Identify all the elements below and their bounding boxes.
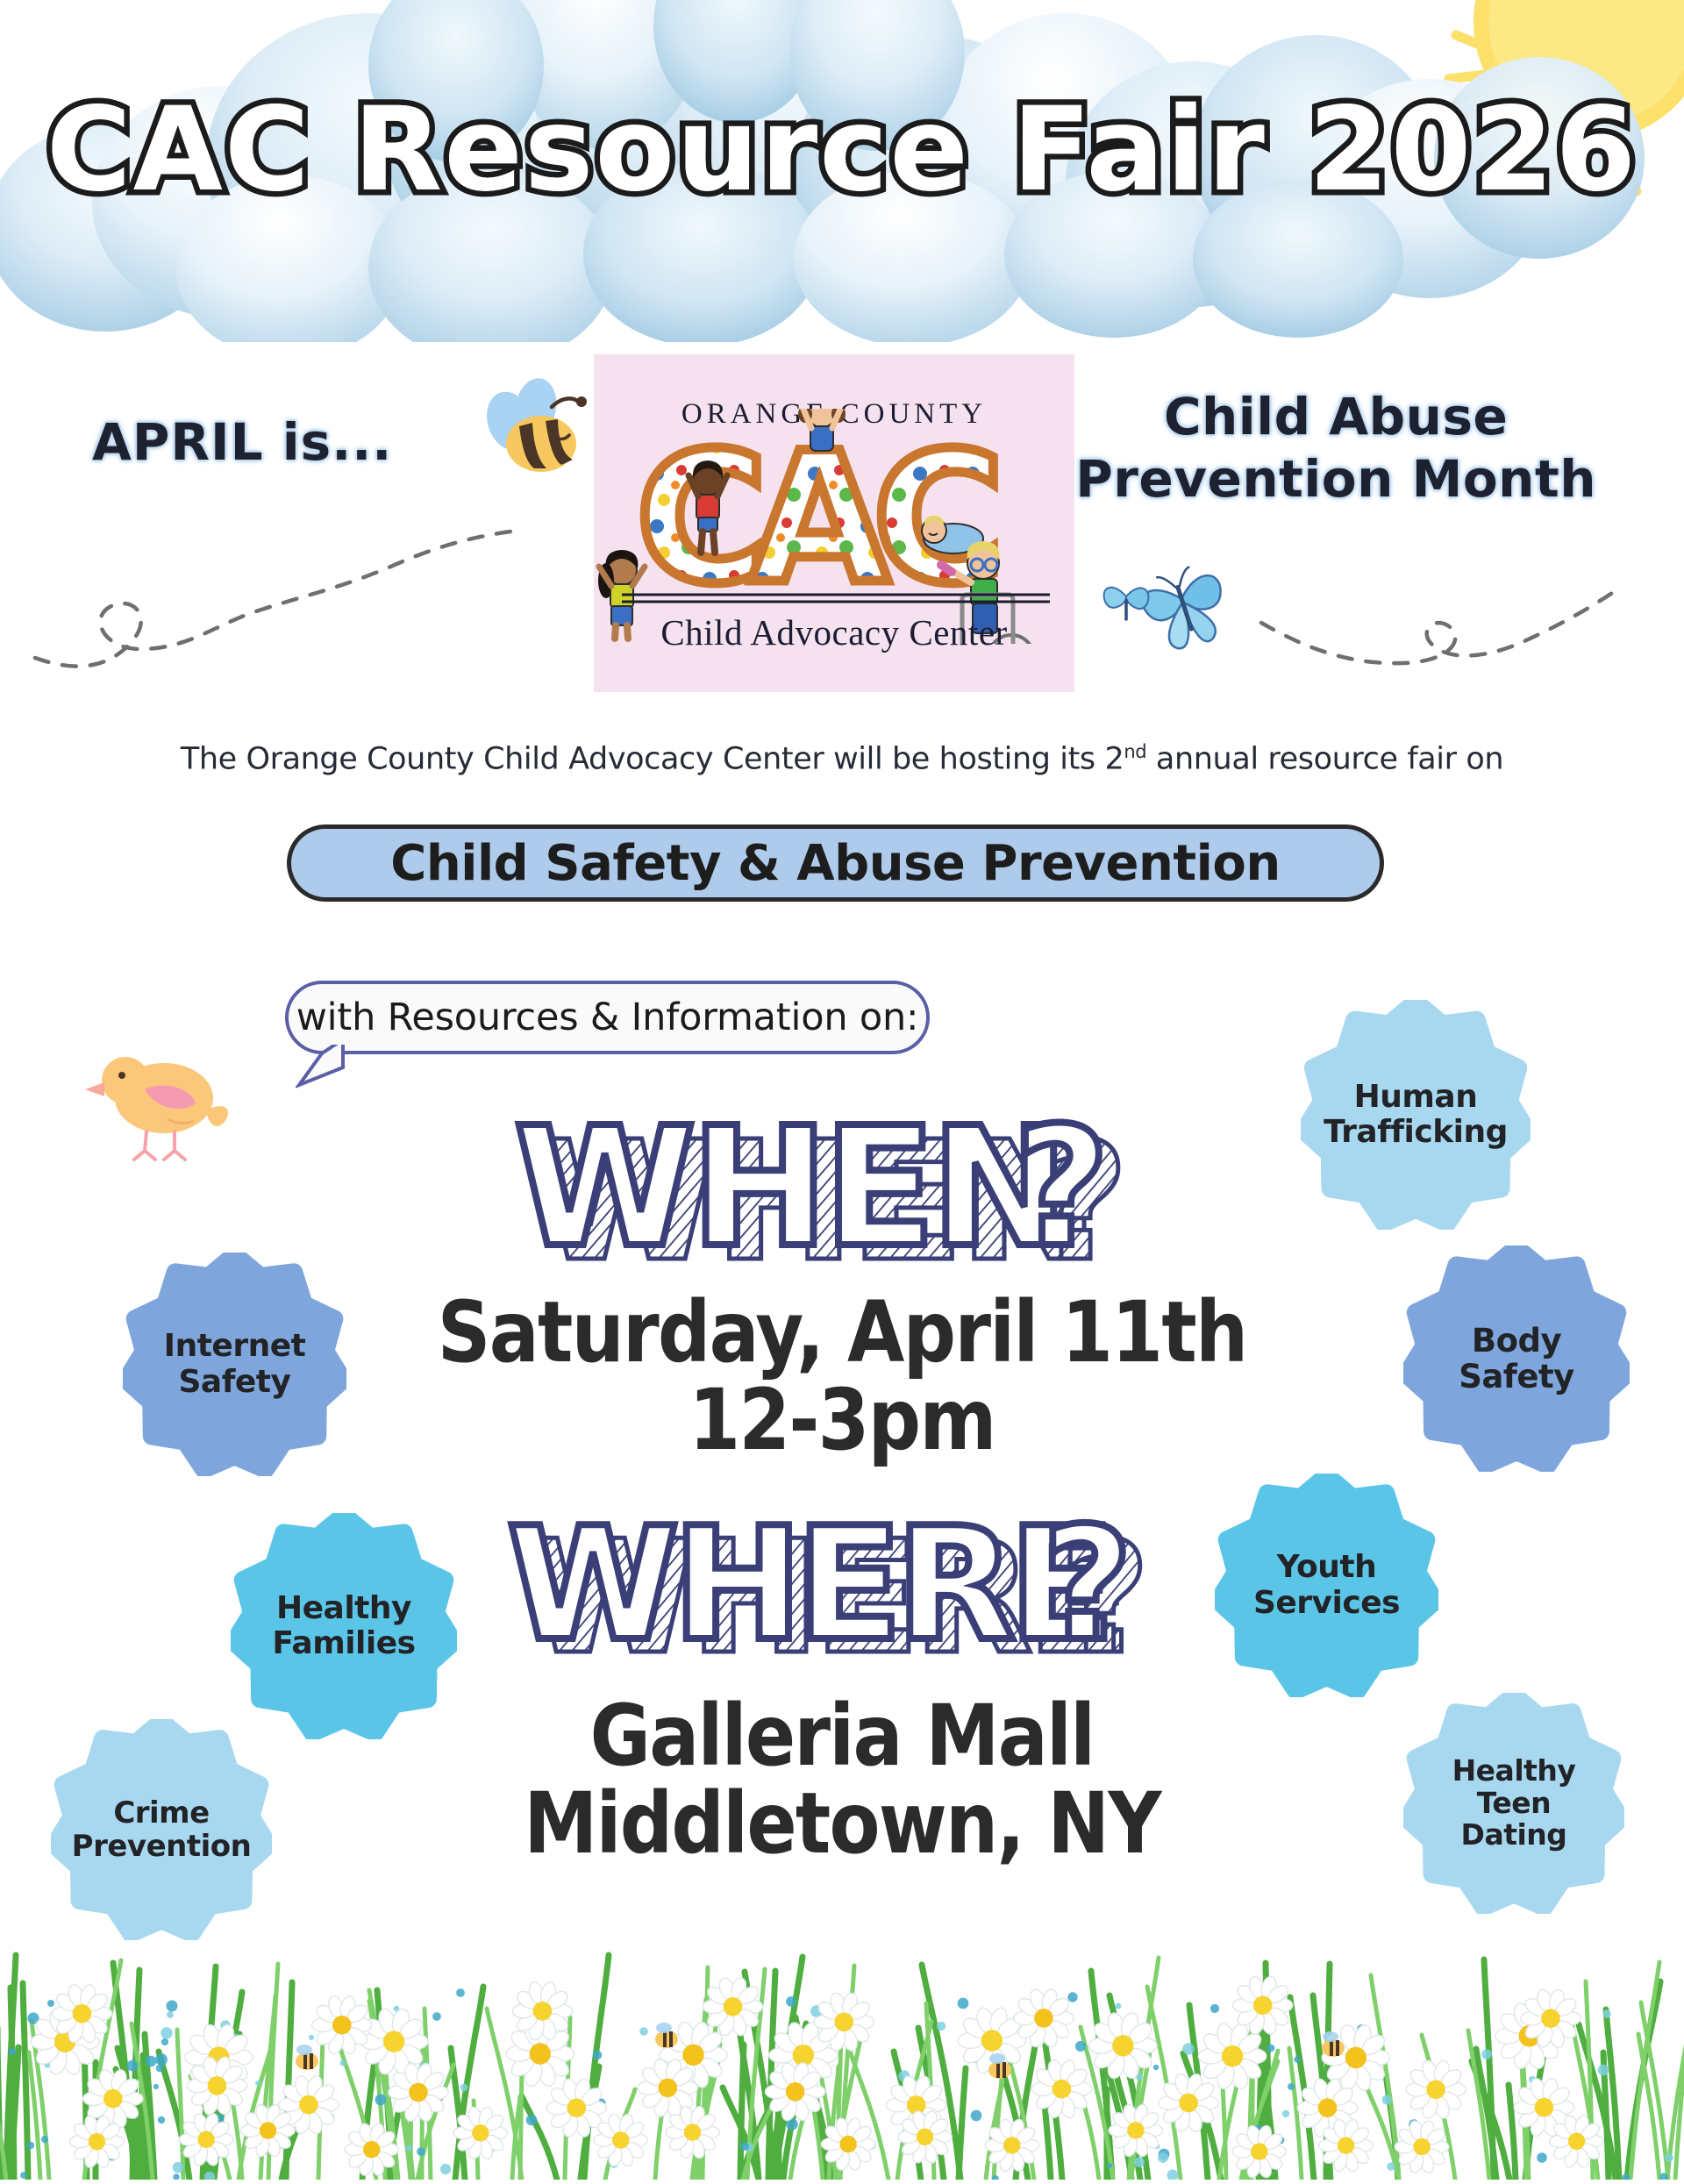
bee-icon xyxy=(478,377,592,487)
page-title: CAC Resource Fair 2026 xyxy=(0,92,1684,208)
bee-icon xyxy=(296,2045,318,2070)
bee-icon xyxy=(655,2023,678,2048)
april-is-label: APRIL is... xyxy=(92,412,392,472)
bird-icon xyxy=(83,1035,241,1175)
svg-text:WHERE: WHERE xyxy=(507,1494,1109,1662)
where-heading: WHERE ? WHERE ? xyxy=(488,1491,1189,1662)
prevention-month-line2: Prevention Month xyxy=(1075,448,1596,510)
daisy-meadow-icon xyxy=(0,1916,1684,2180)
svg-text:?: ? xyxy=(1042,1494,1132,1662)
intro-after: annual resource fair on xyxy=(1146,742,1503,777)
svg-text:WHEN: WHEN xyxy=(514,1092,1063,1270)
daisy-icon xyxy=(1232,2124,1286,2180)
bee-flight-path xyxy=(26,526,517,702)
where-city: Middletown, NY xyxy=(101,1781,1583,1868)
logo-bottom-text: Child Advocacy Center xyxy=(594,611,1074,653)
prevention-month-label: Child Abuse Prevention Month xyxy=(1075,386,1596,510)
topic-blob: Body Safety xyxy=(1403,1245,1630,1472)
daisy-icon xyxy=(1395,2119,1448,2174)
butterfly-small-icon xyxy=(1096,561,1158,632)
butterfly-flight-path xyxy=(1254,570,1623,728)
intro-before: The Orange County Child Advocacy Center … xyxy=(181,742,1124,777)
resources-speech-bubble: with Resources & Information on: xyxy=(285,981,930,1054)
prevention-month-line1: Child Abuse xyxy=(1075,386,1596,448)
cac-logo: ORANGE COUNTY C A C xyxy=(594,354,1074,692)
topic-blob-label: Crime Prevention xyxy=(72,1796,252,1863)
topic-blob: Youth Services xyxy=(1215,1474,1438,1697)
speech-bubble-tail xyxy=(296,1039,357,1088)
when-heading: WHEN ? WHEN ? xyxy=(488,1090,1181,1270)
topic-banner: Child Safety & Abuse Prevention xyxy=(287,824,1384,902)
topic-blob: Healthy Families xyxy=(231,1513,457,1739)
topic-blob: Human Trafficking xyxy=(1301,1000,1531,1230)
topic-blob-label: Youth Services xyxy=(1253,1550,1400,1621)
topic-blob-label: Healthy Teen Dating xyxy=(1452,1755,1576,1852)
topic-banner-label: Child Safety & Abuse Prevention xyxy=(390,835,1280,892)
svg-text:?: ? xyxy=(1014,1092,1110,1270)
resources-bubble-label: with Resources & Information on: xyxy=(296,996,919,1039)
intro-ordinal: nd xyxy=(1124,741,1146,762)
intro-sentence: The Orange County Child Advocacy Center … xyxy=(0,741,1684,777)
topic-blob: Healthy Teen Dating xyxy=(1403,1693,1624,1914)
topic-blob-label: Human Trafficking xyxy=(1324,1080,1508,1151)
topic-blob-label: Body Safety xyxy=(1459,1323,1574,1395)
daisy-icon xyxy=(1031,2059,1091,2120)
topic-blob: Internet Safety xyxy=(123,1253,346,1476)
topic-blob-label: Healthy Families xyxy=(272,1591,415,1662)
topic-blob-label: Internet Safety xyxy=(164,1329,306,1400)
daisy-icon xyxy=(1406,2059,1466,2120)
poster-canvas: CAC Resource Fair 2026 CAC Resource Fair… xyxy=(0,0,1684,2180)
topic-blob: Crime Prevention xyxy=(51,1719,272,1940)
